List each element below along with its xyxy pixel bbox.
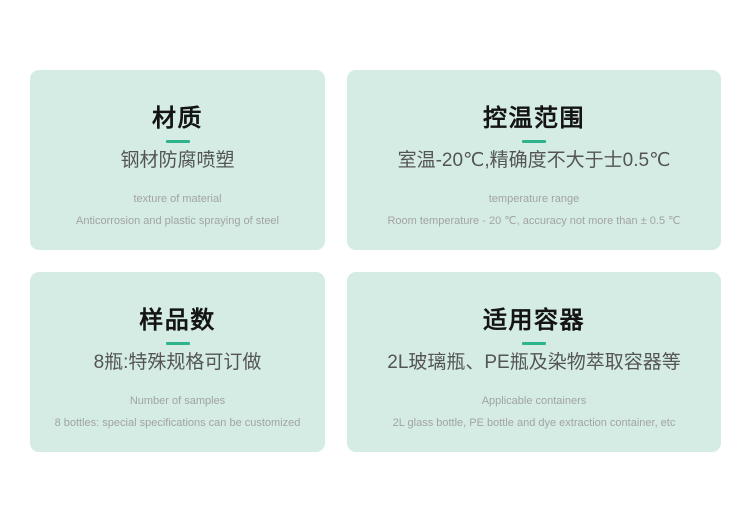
spec-card-grid: 材质 钢材防腐喷塑 texture of material Anticorros… bbox=[30, 70, 721, 452]
card-english-secondary: 8 bottles: special specifications can be… bbox=[55, 417, 301, 430]
spec-card-applicable-containers: 适用容器 2L玻璃瓶、PE瓶及染物萃取容器等 Applicable contai… bbox=[347, 272, 721, 452]
card-title: 材质 bbox=[152, 106, 203, 131]
card-english-primary: temperature range bbox=[489, 193, 580, 206]
divider-accent-bar bbox=[522, 140, 546, 143]
spec-card-temperature-range: 控温范围 室温-20℃,精确度不大于士0.5℃ temperature rang… bbox=[347, 70, 721, 250]
divider-accent-bar bbox=[166, 140, 190, 143]
card-subtitle: 2L玻璃瓶、PE瓶及染物萃取容器等 bbox=[387, 352, 680, 375]
divider-accent-bar bbox=[166, 342, 190, 345]
card-english-secondary: Anticorrosion and plastic spraying of st… bbox=[76, 215, 279, 228]
card-english-primary: Applicable containers bbox=[482, 395, 587, 408]
card-english-primary: texture of material bbox=[133, 193, 221, 206]
card-subtitle: 室温-20℃,精确度不大于士0.5℃ bbox=[398, 150, 671, 173]
card-english-secondary: Room temperature - 20 ℃, accuracy not mo… bbox=[387, 215, 680, 228]
card-title: 适用容器 bbox=[483, 308, 585, 333]
divider-accent-bar bbox=[522, 342, 546, 345]
card-english-primary: Number of samples bbox=[130, 395, 225, 408]
card-title: 样品数 bbox=[139, 308, 216, 333]
spec-card-material: 材质 钢材防腐喷塑 texture of material Anticorros… bbox=[30, 70, 325, 250]
card-subtitle: 钢材防腐喷塑 bbox=[120, 150, 234, 173]
card-title: 控温范围 bbox=[483, 106, 585, 131]
card-english-secondary: 2L glass bottle, PE bottle and dye extra… bbox=[393, 417, 676, 430]
card-subtitle: 8瓶:特殊规格可订做 bbox=[94, 352, 262, 375]
spec-card-sample-count: 样品数 8瓶:特殊规格可订做 Number of samples 8 bottl… bbox=[30, 272, 325, 452]
